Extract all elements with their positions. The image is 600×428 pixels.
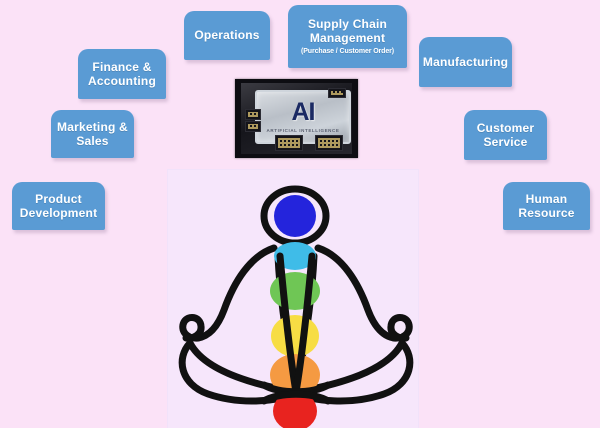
figure-left-hand-curl	[183, 317, 201, 338]
dept-label-supply-chain: Supply Chain Management	[292, 17, 403, 45]
dept-box-customer-service[interactable]: Customer Service	[464, 110, 547, 160]
dept-label-manufacturing: Manufacturing	[423, 55, 508, 69]
microchip-photo: AI ARTIFICIAL INTELLIGENCE	[235, 79, 358, 158]
dept-label-human-resource: Human Resource	[507, 192, 586, 220]
dept-label-marketing-sales: Marketing & Sales	[55, 120, 130, 148]
figure-left-arm	[198, 248, 274, 338]
chip-pin-block-left-lower	[245, 121, 261, 132]
dept-label-operations: Operations	[194, 28, 259, 42]
dept-sublabel-supply-chain: (Purchase / Customer Order)	[301, 48, 394, 56]
dept-box-operations[interactable]: Operations	[184, 11, 270, 60]
dept-box-marketing-sales[interactable]: Marketing & Sales	[51, 110, 134, 158]
chip-pin-block-bottom-left	[275, 135, 303, 151]
figure-right-hand-curl	[391, 317, 409, 338]
chip-sublabel: ARTIFICIAL INTELLIGENCE	[257, 128, 349, 133]
chip-pin-block-top-right	[328, 88, 346, 98]
dept-box-finance-accounting[interactable]: Finance & Accounting	[78, 49, 166, 99]
dept-label-product-development: Product Development	[16, 192, 101, 220]
dept-label-customer-service: Customer Service	[468, 121, 543, 149]
chakra-solar-plexus	[271, 315, 319, 357]
chip-ai-label: AI	[257, 100, 349, 125]
chip-pin-block-bottom-right	[315, 135, 343, 151]
slide-canvas: Operations Supply Chain Management (Purc…	[0, 0, 600, 428]
dept-box-product-development[interactable]: Product Development	[12, 182, 105, 230]
chakra-crown	[274, 195, 316, 237]
meditating-chakra-figure	[168, 170, 418, 428]
dept-box-supply-chain[interactable]: Supply Chain Management (Purchase / Cust…	[288, 5, 407, 68]
chip-pin-block-left-upper	[245, 109, 261, 120]
chip-board: AI ARTIFICIAL INTELLIGENCE	[241, 83, 352, 154]
dept-box-human-resource[interactable]: Human Resource	[503, 182, 590, 230]
dept-box-manufacturing[interactable]: Manufacturing	[419, 37, 512, 87]
figure-right-arm	[318, 248, 394, 338]
dept-label-finance-accounting: Finance & Accounting	[82, 60, 162, 88]
